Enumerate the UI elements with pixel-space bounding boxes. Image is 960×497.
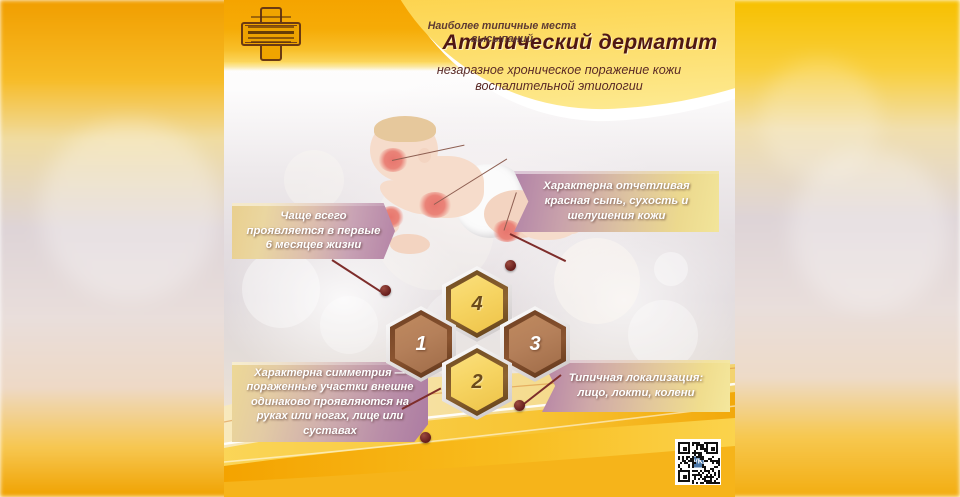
baby-hair [374,116,436,142]
qr-finder-pattern [706,442,718,454]
logo-text-line [248,31,294,34]
bokeh-circle [628,300,698,370]
connector-knob [380,285,391,296]
callout-text: Типичная локализация: лицо, локти, колен… [555,371,717,401]
page-subtitle-line-1: незаразное хроническое поражение кожи [392,62,726,78]
callout-line: пораженные участки внешне [247,380,414,395]
rash-areas-label: Наиболее типичные места высыпаний [422,20,582,46]
logo-text-line [251,16,291,18]
page-subtitle: незаразное хроническое поражение кожи во… [392,62,726,94]
bokeh-circle [654,252,688,286]
callout-text: Характерна отчетливая красная сыпь, сухо… [529,179,704,224]
qr-code-modules: VK [677,441,719,483]
background-bokeh [40,120,220,300]
connector-knob [420,432,431,443]
callout-highlight [514,171,719,174]
logo-text-line [251,41,291,43]
callout-line: 6 месяцев жизни [246,238,380,253]
callout-line: Чаще всего [246,209,380,224]
bokeh-circle [320,296,378,354]
callout-line: руках или ногах, лице или [247,409,414,424]
background-bokeh [760,60,880,180]
callout-line: лицо, локти, колени [569,386,703,401]
callout-onset-age[interactable]: Чаще всего проявляется в первые 6 месяце… [232,203,395,259]
baby-hand-2 [390,234,430,254]
qr-finder-pattern [678,442,690,454]
logo-text-line [248,26,294,28]
callout-line: суставах [247,424,414,439]
callout-line: красная сыпь, сухость и [543,194,690,209]
qr-code-vk[interactable]: VK [675,439,721,485]
infographic-poster: Атопический дерматит незаразное хроничес… [224,0,735,497]
connector-knob [514,400,525,411]
callout-line: Типичная локализация: [569,371,703,386]
callout-text: Чаще всего проявляется в первые 6 месяце… [232,209,394,253]
callout-line: проявляется в первые [246,224,380,239]
callout-highlight [232,203,395,206]
rash-areas-label-line-2: высыпаний [422,33,582,46]
hexagon-2[interactable]: 2 [442,344,512,420]
rash-areas-label-line-1: Наиболее типичные места [422,20,582,33]
medical-cross-logo [240,6,302,62]
page-subtitle-line-2: воспалительной этиологии [392,78,726,94]
callout-highlight [542,360,730,363]
qr-finder-pattern [678,470,690,482]
callout-line: одинаково проявляются на [247,395,414,410]
callout-symptoms[interactable]: Характерна отчетливая красная сыпь, сухо… [514,171,719,232]
baby-ear [418,148,431,163]
callout-localization[interactable]: Типичная локализация: лицо, локти, колен… [542,360,730,412]
bokeh-circle [242,250,320,328]
logo-text-line [248,37,294,39]
callout-line: шелушения кожи [543,209,690,224]
callout-line: Характерна отчетливая [543,179,690,194]
